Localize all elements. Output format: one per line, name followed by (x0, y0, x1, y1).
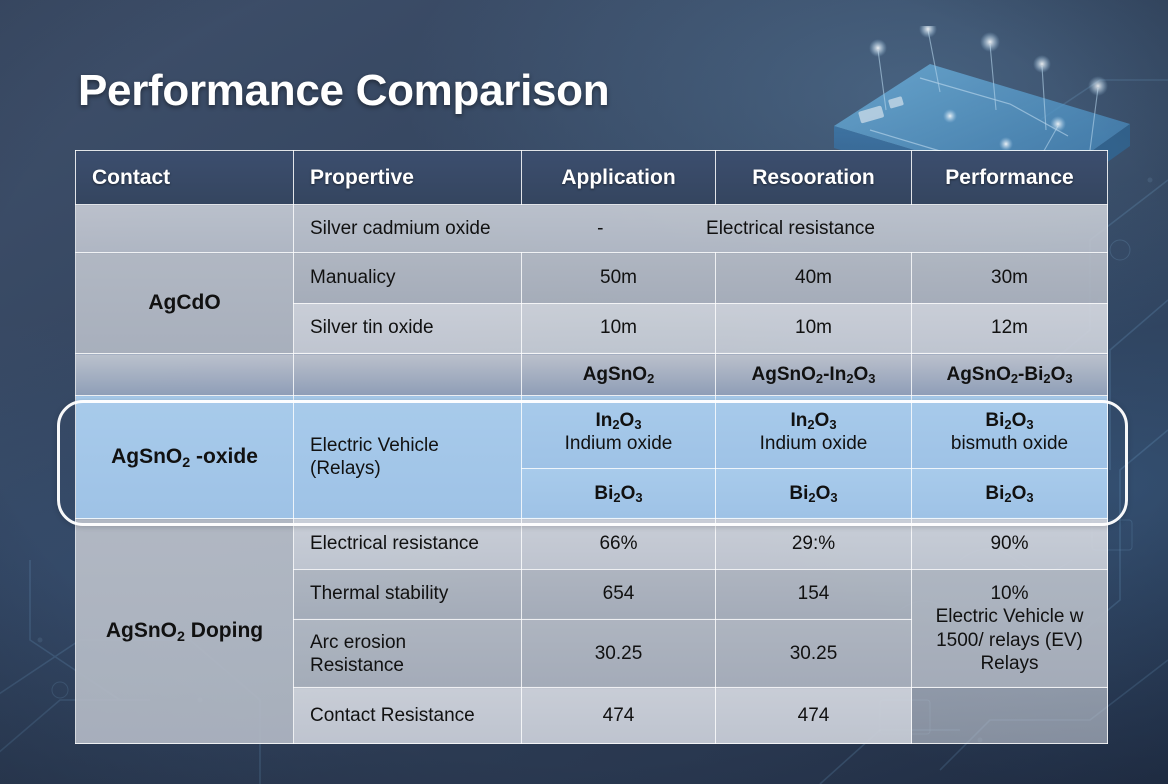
text-electrical-resistance-top: Electrical resistance (706, 218, 875, 239)
column-header-performance: Performance (912, 151, 1108, 205)
cell-er-application: 66% (522, 519, 716, 569)
cell-ae-application: 30.25 (522, 619, 716, 688)
text-perf-10-percent: 10% (922, 582, 1097, 605)
cell-cr-resooration: 474 (716, 688, 912, 744)
cell-resooration-bi2o3: Bi2O3 (716, 468, 912, 518)
cell-resooration-in2o3: In2O3 Indium oxide (716, 396, 912, 469)
table-row: AgSnO2 Doping Electrical resistance 66% … (76, 519, 1108, 569)
text-arc-erosion-resistance: Resistance (310, 654, 511, 677)
group-cell-blank-top (76, 205, 294, 253)
performance-comparison-table: Contact Propertive Application Resoorati… (75, 150, 1108, 744)
text-perf-electric-vehicle: Electric Vehicle w (922, 605, 1097, 628)
cell-ae-resooration: 30.25 (716, 619, 912, 688)
text-indium-oxide-app: Indium oxide (532, 432, 705, 455)
cell-property-silver-tin-oxide: Silver tin oxide (294, 303, 522, 353)
cell-property-contact-resistance: Contact Resistance (294, 688, 522, 744)
formula-in2o3-app: In2O3 (532, 409, 705, 432)
text-silver-cadmium-oxide: Silver cadmium oxide (310, 218, 491, 239)
group-label-agsno2-doping: AgSnO2 Doping (76, 519, 294, 744)
cell-er-resooration: 29:% (716, 519, 912, 569)
table-row: Silver cadmium oxide - Electrical resist… (76, 205, 1108, 253)
cell-manualicy-resooration: 40m (716, 253, 912, 303)
cell-cr-performance-empty (912, 688, 1108, 744)
cell-manualicy-performance: 30m (912, 253, 1108, 303)
cell-property-manualicy: Manualicy (294, 253, 522, 303)
cell-cr-application: 474 (522, 688, 716, 744)
text-electric-vehicle: Electric Vehicle (310, 434, 511, 457)
table-row: AgCdO Manualicy 50m 40m 30m (76, 253, 1108, 303)
cell-application-bi2o3: Bi2O3 (522, 468, 716, 518)
group-label-agsno2-oxide: AgSnO2 -oxide (76, 396, 294, 519)
cell-blank-contact (76, 354, 294, 396)
cell-manualicy-application: 50m (522, 253, 716, 303)
page-title: Performance Comparison (78, 66, 609, 116)
cell-performance-bi2o3-2: Bi2O3 (912, 468, 1108, 518)
cell-property-electrical-resistance: Electrical resistance (294, 519, 522, 569)
column-header-application: Application (522, 151, 716, 205)
cell-property-thermal-stability: Thermal stability (294, 569, 522, 619)
text-arc-erosion: Arc erosion (310, 631, 511, 654)
cell-er-performance: 90% (912, 519, 1108, 569)
cell-formula-agsno2-in2o3: AgSnO2-In2O3 (716, 354, 912, 396)
cell-ts-resooration: 154 (716, 569, 912, 619)
cell-ts-application: 654 (522, 569, 716, 619)
cell-silver-tin-resooration: 10m (716, 303, 912, 353)
column-header-resooration: Resooration (716, 151, 912, 205)
text-indium-oxide-res: Indium oxide (726, 432, 901, 455)
table-row-highlighted: AgSnO2 -oxide Electric Vehicle (Relays) … (76, 396, 1108, 469)
text-bismuth-oxide: bismuth oxide (922, 432, 1097, 455)
column-header-contact: Contact (76, 151, 294, 205)
text-dash: - (597, 218, 603, 239)
cell-performance-ev-relays-merged: 10% Electric Vehicle w 1500/ relays (EV)… (912, 569, 1108, 688)
group-label-agcdo: AgCdO (76, 253, 294, 354)
table-header-row: Contact Propertive Application Resoorati… (76, 151, 1108, 205)
text-perf-relays: Relays (922, 652, 1097, 675)
cell-formula-agsno2-bi2o3: AgSnO2-Bi2O3 (912, 354, 1108, 396)
cell-silver-cadmium-oxide-span: Silver cadmium oxide - Electrical resist… (294, 205, 1108, 253)
column-header-propertive: Propertive (294, 151, 522, 205)
cell-electric-vehicle-relays: Electric Vehicle (Relays) (294, 396, 522, 519)
text-relays: (Relays) (310, 457, 511, 480)
cell-silver-tin-application: 10m (522, 303, 716, 353)
cell-formula-agsno2: AgSnO2 (522, 354, 716, 396)
cell-blank-propertive (294, 354, 522, 396)
cell-application-in2o3: In2O3 Indium oxide (522, 396, 716, 469)
performance-comparison-table-container: Contact Propertive Application Resoorati… (75, 150, 1107, 744)
table-row: AgSnO2 AgSnO2-In2O3 AgSnO2-Bi2O3 (76, 354, 1108, 396)
cell-property-arc-erosion: Arc erosion Resistance (294, 619, 522, 688)
formula-bi2o3-perf: Bi2O3 (922, 409, 1097, 432)
text-perf-1500-relays: 1500/ relays (EV) (922, 629, 1097, 652)
cell-performance-bi2o3: Bi2O3 bismuth oxide (912, 396, 1108, 469)
formula-in2o3-res: In2O3 (726, 409, 901, 432)
cell-silver-tin-performance: 12m (912, 303, 1108, 353)
